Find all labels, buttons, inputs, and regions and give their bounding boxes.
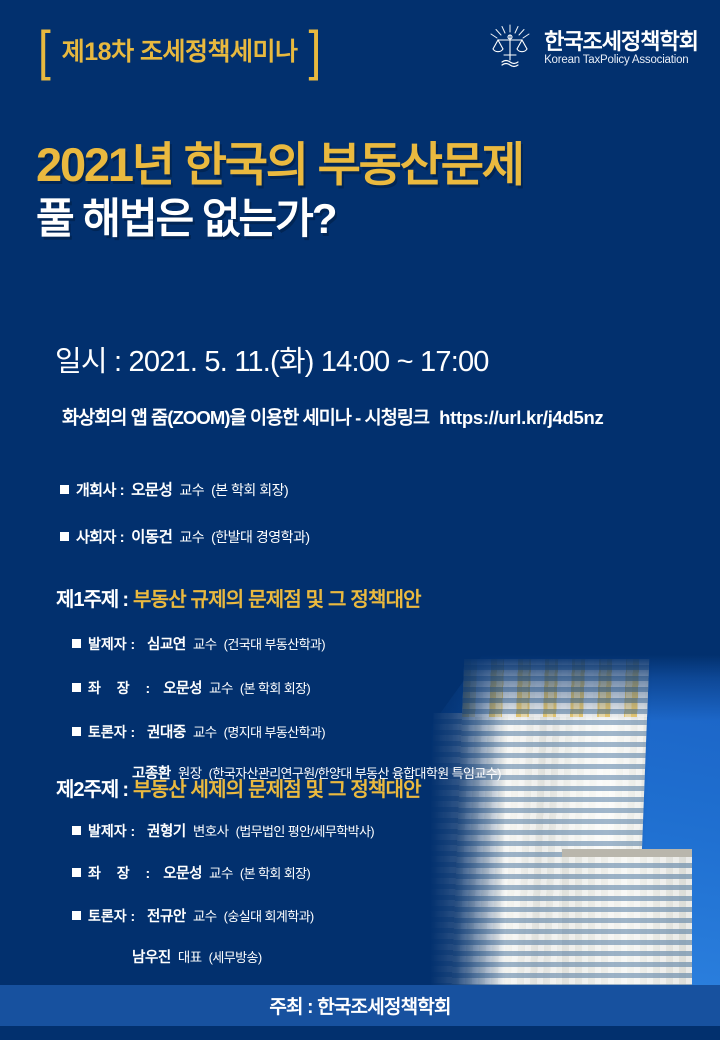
logo-korean-name: 한국조세정책학회 bbox=[544, 30, 698, 53]
participant-affiliation: (숭실대 회계학과) bbox=[224, 906, 314, 925]
poster-title: 2021년 한국의 부동산문제 풀 해법은 없는가? bbox=[36, 140, 686, 242]
role-person-affiliation: (본 학회 회장) bbox=[211, 480, 288, 500]
topic-2-heading: 제2주제 : 부동산 세제의 문제점 및 그 정책대안 bbox=[56, 773, 421, 802]
participant-name: 오문성 bbox=[163, 862, 202, 883]
topic-2-number: 제2주제 bbox=[56, 773, 118, 802]
participant-title: 교수 bbox=[209, 862, 233, 882]
topic-2-name: 부동산 세제의 문제점 및 그 정책대안 bbox=[133, 773, 421, 802]
title-line-1: 2021년 한국의 부동산문제 bbox=[36, 140, 686, 191]
participant-title: 교수 bbox=[193, 721, 217, 741]
role-person-name: 이동건 bbox=[131, 525, 172, 547]
role-label: 개회사 : bbox=[76, 479, 124, 500]
participant-title: 대표 bbox=[178, 946, 202, 966]
close-bracket-icon: ] bbox=[309, 23, 322, 77]
participant-name: 남우진 bbox=[132, 946, 171, 967]
participant-name: 권대중 bbox=[147, 721, 186, 742]
participant-title: 교수 bbox=[193, 905, 217, 925]
poster-header: [ 제18차 조세정책세미나 ] bbox=[0, 0, 720, 100]
footer-organizer-text: 주최 : 한국조세정책학회 bbox=[269, 992, 450, 1019]
topic-1-number: 제1주제 bbox=[56, 583, 118, 612]
footer-bottom-strip bbox=[0, 1026, 720, 1040]
tower-top-accent bbox=[462, 659, 649, 717]
platform-label: 화상회의 앱 줌(ZOOM)을 이용한 세미나 - 시청링크 bbox=[62, 407, 429, 428]
bullet-square-icon bbox=[72, 826, 81, 835]
topic-2-participant-discussant-1: 토론자 : 전규안 교수 (숭실대 회계학과) bbox=[72, 905, 314, 926]
participant-affiliation: (본 학회 회장) bbox=[240, 678, 310, 697]
topic-1-colon: : bbox=[122, 589, 129, 612]
bullet-square-icon bbox=[72, 639, 81, 648]
role-label: 사회자 : bbox=[76, 526, 124, 547]
low-rise-building bbox=[562, 857, 692, 985]
participant-name: 심교연 bbox=[147, 633, 186, 654]
bullet-square-icon bbox=[60, 532, 69, 541]
participant-label: 발제자 : bbox=[88, 821, 140, 841]
title-line-2: 풀 해법은 없는가? bbox=[36, 195, 686, 242]
logo-english-name: Korean TaxPolicy Association bbox=[544, 54, 698, 66]
tower-windows bbox=[452, 659, 650, 985]
role-row-host: 사회자 : 이동건 교수 (한발대 경영학과) bbox=[60, 525, 310, 547]
topic-1-participant-chair: 좌 장 : 오문성 교수 (본 학회 회장) bbox=[72, 677, 310, 698]
photo-top-fade bbox=[430, 655, 720, 985]
logo-text-block: 한국조세정책학회 Korean TaxPolicy Association bbox=[544, 30, 698, 66]
bullet-square-icon bbox=[72, 868, 81, 877]
participant-label: 토론자 : bbox=[88, 722, 140, 742]
role-person-title: 교수 bbox=[179, 480, 204, 500]
role-person-name: 오문성 bbox=[131, 478, 172, 500]
apartment-building-photo bbox=[430, 655, 720, 985]
association-logo: 한국조세정책학회 Korean TaxPolicy Association bbox=[486, 24, 698, 72]
participant-title: 교수 bbox=[209, 677, 233, 697]
participant-name: 권형기 bbox=[147, 820, 186, 841]
open-bracket-icon: [ bbox=[38, 23, 51, 77]
poster-footer: 주최 : 한국조세정책학회 bbox=[0, 985, 720, 1026]
participant-label: 토론자 : bbox=[88, 906, 140, 926]
role-person-affiliation: (한발대 경영학과) bbox=[211, 527, 309, 547]
participant-affiliation: (건국대 부동산학과) bbox=[224, 634, 325, 653]
schedule-datetime: 일시 : 2021. 5. 11.(화) 14:00 ~ 17:00 bbox=[55, 338, 489, 380]
secondary-tower bbox=[430, 713, 486, 985]
seminar-badge: [ 제18차 조세정책세미나 ] bbox=[38, 27, 321, 73]
topic-1-heading: 제1주제 : 부동산 규제의 문제점 및 그 정책대안 bbox=[56, 583, 421, 612]
bullet-square-icon bbox=[72, 911, 81, 920]
topic-1-participant-discussant-1: 토론자 : 권대중 교수 (명지대 부동산학과) bbox=[72, 721, 325, 742]
topic-2-participant-chair: 좌 장 : 오문성 교수 (본 학회 회장) bbox=[72, 862, 310, 883]
sky-background bbox=[430, 655, 720, 985]
bullet-square-icon bbox=[60, 485, 69, 494]
participant-name: 오문성 bbox=[163, 677, 202, 698]
participant-name: 전규안 bbox=[147, 905, 186, 926]
topic-2-colon: : bbox=[122, 779, 129, 802]
bullet-square-icon bbox=[72, 683, 81, 692]
participant-affiliation: (본 학회 회장) bbox=[240, 863, 310, 882]
main-tower bbox=[452, 659, 650, 985]
seminar-badge-label: 제18차 조세정책세미나 bbox=[62, 32, 298, 68]
participant-label: 좌 장 : bbox=[88, 678, 156, 698]
participant-affiliation: (법무법인 평안/세무학박사) bbox=[236, 821, 374, 840]
participant-title: 교수 bbox=[193, 633, 217, 653]
topic-1-participant-presenter: 발제자 : 심교연 교수 (건국대 부동산학과) bbox=[72, 633, 325, 654]
topic-1-name: 부동산 규제의 문제점 및 그 정책대안 bbox=[133, 583, 421, 612]
role-person-title: 교수 bbox=[179, 527, 204, 547]
participant-affiliation: (세무방송) bbox=[209, 947, 262, 966]
tower-windows bbox=[430, 713, 486, 985]
seminar-poster: [ 제18차 조세정책세미나 ] bbox=[0, 0, 720, 1040]
topic-2-participant-discussant-2: 남우진 대표 (세무방송) bbox=[132, 946, 262, 967]
schedule-platform-line: 화상회의 앱 줌(ZOOM)을 이용한 세미나 - 시청링크https://ur… bbox=[62, 404, 604, 430]
participant-title: 변호사 bbox=[193, 820, 229, 840]
role-row-opening: 개회사 : 오문성 교수 (본 학회 회장) bbox=[60, 478, 288, 500]
photo-left-fade bbox=[430, 655, 720, 985]
participant-label: 좌 장 : bbox=[88, 863, 156, 883]
participant-label: 발제자 : bbox=[88, 634, 140, 654]
bullet-square-icon bbox=[72, 727, 81, 736]
stream-link[interactable]: https://url.kr/j4d5nz bbox=[439, 407, 603, 428]
topic-2-participant-presenter: 발제자 : 권형기 변호사 (법무법인 평안/세무학박사) bbox=[72, 820, 374, 841]
scales-of-justice-icon bbox=[486, 24, 534, 72]
low-rise-roofline bbox=[562, 849, 692, 859]
tower-windows bbox=[562, 857, 692, 985]
participant-affiliation: (명지대 부동산학과) bbox=[224, 722, 325, 741]
